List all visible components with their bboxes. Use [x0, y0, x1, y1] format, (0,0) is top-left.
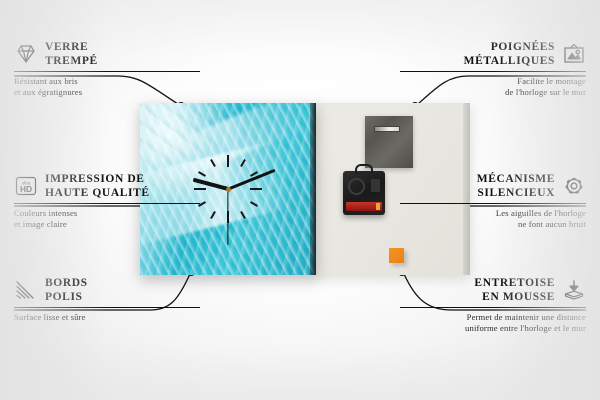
- feature-title-line2: POLIS: [45, 290, 88, 304]
- gear-icon: [562, 175, 586, 197]
- feature-title-line1: ENTRETOISE: [474, 276, 555, 290]
- feature-subtitle-line2: et aux égratignures: [14, 87, 200, 98]
- feature-divider: [14, 203, 200, 204]
- feature-title: POIGNÉES MÉTALLIQUES: [464, 40, 555, 68]
- feature-divider: [400, 203, 586, 204]
- mechanism-dial: [348, 178, 365, 195]
- feature-header: ultra HD IMPRESSION DE HAUTE QUALITÉ: [14, 172, 200, 200]
- feature-title-line1: POIGNÉES: [464, 40, 555, 54]
- feature-header: ENTRETOISE EN MOUSSE: [400, 276, 586, 304]
- feature-header: POIGNÉES MÉTALLIQUES: [400, 40, 586, 68]
- feature-mecanisme-silencieux: MÉCANISME SILENCIEUX Les aiguilles de l'…: [400, 172, 586, 230]
- glass-edge: [310, 103, 316, 275]
- feature-impression-haute-qualite: ultra HD IMPRESSION DE HAUTE QUALITÉ Cou…: [14, 172, 200, 230]
- feature-title: ENTRETOISE EN MOUSSE: [474, 276, 555, 304]
- feature-verre-trempe: VERRE TREMPÉ Résistant aux bris et aux é…: [14, 40, 200, 98]
- foam-spacer-arrow-icon: [562, 279, 586, 301]
- feature-title: BORDS POLIS: [45, 276, 88, 304]
- feature-title-line1: BORDS: [45, 276, 88, 290]
- battery: [346, 202, 382, 211]
- ultra-hd-icon: ultra HD: [14, 175, 38, 197]
- feature-subtitle-line2: de l'horloge sur le mur: [400, 87, 586, 98]
- feature-divider: [14, 71, 200, 72]
- feature-header: BORDS POLIS: [14, 276, 200, 304]
- feature-subtitle-line2: uniforme entre l'horloge et le mur: [400, 323, 586, 334]
- feature-subtitle-line1: Surface lisse et sûre: [14, 312, 200, 323]
- infographic-canvas: VERRE TREMPÉ Résistant aux bris et aux é…: [0, 0, 600, 400]
- feature-title-line1: VERRE: [45, 40, 98, 54]
- feature-divider: [400, 307, 586, 308]
- feature-subtitle-line2: ne font aucun bruit: [400, 219, 586, 230]
- feature-bords-polis: BORDS POLIS Surface lisse et sûre: [14, 276, 200, 323]
- feature-subtitle-line1: Facilite le montage: [400, 76, 586, 87]
- feature-title: MÉCANISME SILENCIEUX: [477, 172, 555, 200]
- feature-subtitle: Les aiguilles de l'horloge ne font aucun…: [400, 208, 586, 230]
- feature-entretoise-en-mousse: ENTRETOISE EN MOUSSE Permet de maintenir…: [400, 276, 586, 334]
- feature-title: IMPRESSION DE HAUTE QUALITÉ: [45, 172, 150, 200]
- feature-poignees-metalliques: POIGNÉES MÉTALLIQUES Facilite le montage…: [400, 40, 586, 98]
- feature-title: VERRE TREMPÉ: [45, 40, 98, 68]
- feature-title-line2: EN MOUSSE: [474, 290, 555, 304]
- feature-title-line2: MÉTALLIQUES: [464, 54, 555, 68]
- feature-title-line1: IMPRESSION DE: [45, 172, 150, 186]
- feature-title-line2: SILENCIEUX: [477, 186, 555, 200]
- mechanism-handle: [355, 164, 373, 174]
- feature-subtitle: Surface lisse et sûre: [14, 312, 200, 323]
- feature-subtitle-line1: Résistant aux bris: [14, 76, 200, 87]
- feature-header: VERRE TREMPÉ: [14, 40, 200, 68]
- foam-spacer: [389, 248, 404, 263]
- feature-subtitle-line1: Permet de maintenir une distance: [400, 312, 586, 323]
- feature-title-line1: MÉCANISME: [477, 172, 555, 186]
- feature-subtitle-line1: Les aiguilles de l'horloge: [400, 208, 586, 219]
- feature-title-line2: TREMPÉ: [45, 54, 98, 68]
- hanger-slot: [374, 126, 400, 132]
- ultra-hd-large-label: HD: [20, 184, 32, 194]
- feature-subtitle-line2: et image claire: [14, 219, 200, 230]
- feature-divider: [400, 71, 586, 72]
- feature-subtitle: Facilite le montage de l'horloge sur le …: [400, 76, 586, 98]
- metal-hanger-plate: [365, 116, 413, 168]
- picture-frame-hook-icon: [562, 43, 586, 65]
- feature-subtitle: Résistant aux bris et aux égratignures: [14, 76, 200, 98]
- clock-mechanism: [343, 171, 385, 215]
- feature-subtitle: Couleurs intenses et image claire: [14, 208, 200, 230]
- feature-subtitle: Permet de maintenir une distance uniform…: [400, 312, 586, 334]
- diamond-icon: [14, 43, 38, 65]
- feature-header: MÉCANISME SILENCIEUX: [400, 172, 586, 200]
- feature-divider: [14, 307, 200, 308]
- polished-edge-icon: [14, 279, 38, 301]
- mechanism-block: [371, 179, 380, 192]
- feature-title-line2: HAUTE QUALITÉ: [45, 186, 150, 200]
- feature-subtitle-line1: Couleurs intenses: [14, 208, 200, 219]
- clock-center-cap: [226, 187, 231, 192]
